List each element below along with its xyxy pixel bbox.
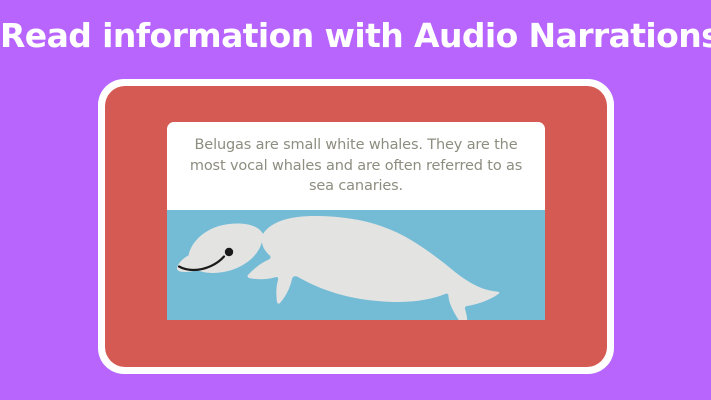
illustration-panel: [167, 210, 545, 320]
whale-eye: [225, 248, 233, 256]
whale-body-shape: [248, 216, 500, 320]
content-card: Belugas are small white whales. They are…: [105, 86, 607, 367]
whale-body-group: [177, 216, 499, 320]
info-text: Belugas are small white whales. They are…: [177, 135, 535, 197]
beluga-whale-illustration: [167, 210, 545, 320]
card-frame: Belugas are small white whales. They are…: [98, 79, 614, 374]
slide-canvas: Read information with Audio Narrations B…: [0, 0, 711, 400]
page-title: Read information with Audio Narrations: [0, 16, 711, 56]
info-text-panel: Belugas are small white whales. They are…: [167, 122, 545, 210]
